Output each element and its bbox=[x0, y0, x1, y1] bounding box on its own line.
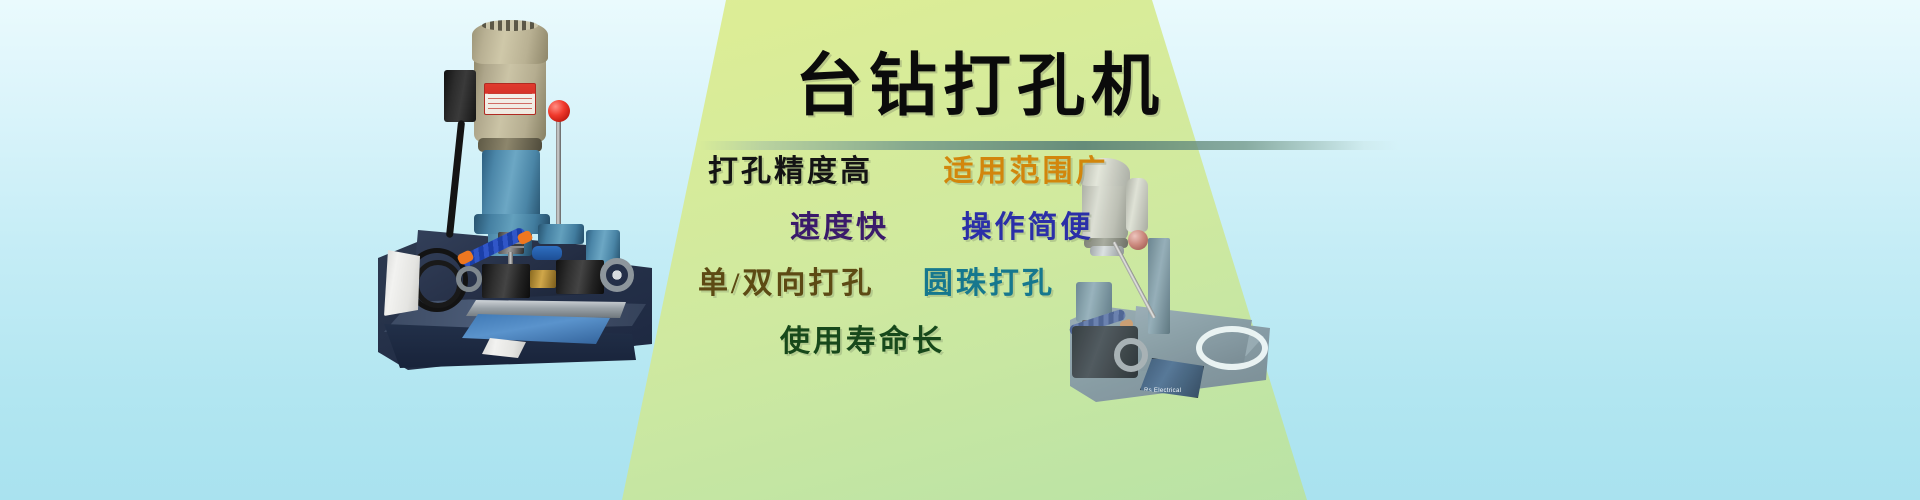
vise-left-jaw bbox=[482, 264, 530, 298]
blue-pipe-fitting bbox=[532, 246, 562, 260]
handwheel-left bbox=[456, 266, 482, 292]
feature-item-1a: 打孔精度高 bbox=[708, 146, 873, 190]
page-title: 台钻打孔机 bbox=[760, 40, 1200, 132]
feature-item-1b: 适用范围广 bbox=[944, 146, 1109, 190]
feature-list: 打孔精度高 适用范围广 速度快 操作简便 单/双向打孔 圆珠打孔 使用寿命长 bbox=[650, 134, 1210, 414]
feature-item-2b: 操作简便 bbox=[962, 202, 1094, 246]
feature-row-4: 使用寿命长 bbox=[650, 316, 1210, 360]
product-photo-left bbox=[370, 8, 660, 370]
feature-row-2: 速度快 操作简便 bbox=[650, 202, 1210, 246]
power-cable bbox=[446, 120, 465, 238]
vise-right-jaw bbox=[556, 260, 604, 294]
feature-item-3a: 单/双向打孔 bbox=[698, 258, 874, 302]
feature-row-1: 打孔精度高 适用范围广 bbox=[650, 146, 1210, 190]
lever-bracket bbox=[538, 224, 584, 244]
junction-box bbox=[444, 70, 476, 122]
feature-item-2a: 速度快 bbox=[790, 202, 889, 246]
motor-nameplate bbox=[484, 83, 536, 115]
feed-lever-knob bbox=[548, 100, 570, 122]
feature-item-3b: 圆珠打孔 bbox=[923, 258, 1055, 302]
vise-brass-piece bbox=[530, 270, 556, 288]
handwheel-right bbox=[600, 258, 634, 292]
feature-item-4a: 使用寿命长 bbox=[780, 316, 945, 360]
promo-banner: Rs Electrical 台钻打孔机 打孔精度高 适用范围广 速度快 操作简便… bbox=[0, 0, 1920, 500]
feature-row-3: 单/双向打孔 圆珠打孔 bbox=[650, 258, 1210, 302]
control-box bbox=[384, 250, 420, 316]
feed-lever-rod bbox=[556, 116, 561, 234]
cable-coil-inner bbox=[414, 260, 462, 308]
spindle-head bbox=[482, 150, 540, 224]
motor-vents bbox=[482, 20, 538, 31]
